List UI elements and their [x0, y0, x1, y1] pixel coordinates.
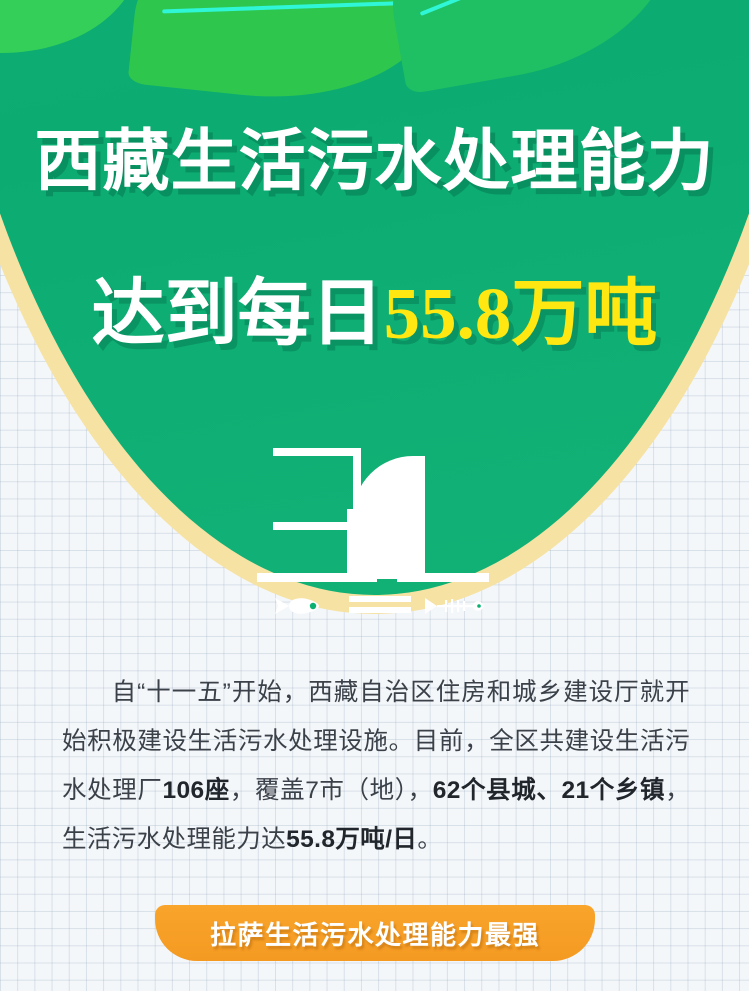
wastewater-outfall-icon [235, 440, 515, 615]
subtitle-highlight-value: 55.8万吨 [384, 273, 658, 354]
leaf-right-lower-green [372, 0, 692, 94]
ground-line-right-icon [397, 573, 489, 582]
leaf-left-lower-green [0, 0, 149, 72]
body-quote: “十一五” [137, 679, 231, 706]
subtitle: 达到每日55.8万吨 [0, 277, 749, 350]
stat-counties-townships: 62个县城、21个乡镇 [433, 777, 665, 804]
ground-line-left-icon [257, 573, 377, 582]
highlight-banner-label: 拉萨生活污水处理能力最强 [210, 915, 540, 952]
body-paragraph: 自“十一五”开始，西藏自治区住房和城乡建设厅就开始积极建设生活污水处理设施。目前… [62, 668, 690, 864]
body-text-1: 自 [111, 679, 137, 706]
fish-skeleton-icon [421, 594, 487, 618]
water-lines-icon [349, 596, 411, 614]
pipe-top-segment-icon [273, 448, 361, 456]
stat-daily-capacity: 55.8万吨/日 [286, 826, 417, 853]
aquatic-icons-row [257, 592, 497, 616]
water-jet-icon [353, 456, 425, 579]
subtitle-white-text: 达到每日 [92, 273, 384, 354]
fish-icon [263, 594, 327, 618]
body-text-5: 。 [417, 826, 442, 853]
infographic-poster: 西藏生活污水处理能力 达到每日55.8万吨 [0, 0, 749, 991]
highlight-banner[interactable]: 拉萨生活污水处理能力最强 [155, 905, 595, 961]
body-text-3: ，覆盖7市（地）， [230, 777, 433, 804]
stat-plants-count: 106座 [162, 777, 229, 804]
page-title: 西藏生活污水处理能力 [0, 128, 749, 195]
